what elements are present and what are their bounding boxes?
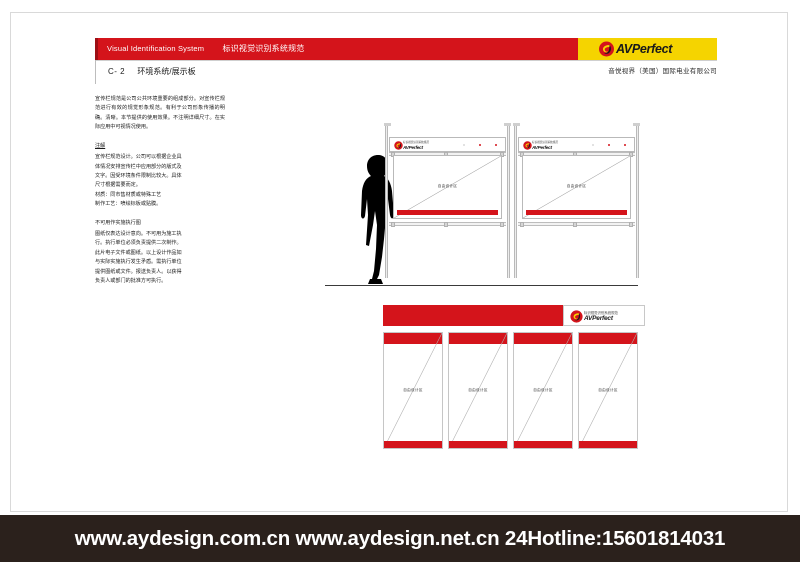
header-subrow: C- 2 环境系统/展示板 音悦视界（美国）国际电业有限公司 <box>95 60 717 84</box>
warning-line: 行。执行单位必须负责提供二次制作。 <box>95 239 225 248</box>
warning-line: 与实际实施执行发生矛盾。需执行单位 <box>95 258 225 267</box>
board-design-panel: 自由设计区 <box>393 155 502 219</box>
board-post-right <box>636 126 639 278</box>
plan-brand-en: AVPerfect <box>584 315 613 322</box>
plan-panel: 自由设计区 <box>578 332 638 449</box>
footer-banner: www.aydesign.com.cn www.aydesign.net.cn … <box>0 515 800 562</box>
note-line: 体情况安排宣传栏中应用部分的版式及 <box>95 163 225 172</box>
ground-line <box>325 285 638 286</box>
intro-paragraph: 宣传栏规范是公司公共环境重要的组成部分。对宣传栏规范进行有效的规觉形象规范。有利… <box>95 95 225 133</box>
panel-red-bar <box>397 210 498 215</box>
plan-panel: 自由设计区 <box>448 332 508 449</box>
note-line: 文字。因受环境条件限制比较大。具体 <box>95 172 225 181</box>
swirl-logo-icon <box>523 141 532 150</box>
rail-nub-icon <box>520 222 524 227</box>
board-rail-bottom <box>518 222 635 226</box>
rail-nub-icon <box>500 222 504 227</box>
rail-nub-icon <box>391 222 395 227</box>
post-cap-icon <box>504 123 511 126</box>
plan-panel: 自由设计区 <box>383 332 443 449</box>
header-red-band: Visual Identification System 标识视觉识别系统规范 <box>95 38 578 60</box>
board-header-bar: 标识视觉识别系统规范 AVPerfect <box>518 137 635 152</box>
system-title-cn: 标识视觉识别系统规范 <box>222 44 304 53</box>
system-title-en: Visual Identification System <box>107 44 204 53</box>
note-line: 材质：同市售材质或特殊工艺 <box>95 191 225 200</box>
panel-label: 自由设计区 <box>394 184 501 189</box>
panel-bottom-bar <box>449 441 507 448</box>
copy-column: 宣传栏规范是公司公共环境重要的组成部分。对宣传栏规范进行有效的规觉形象规范。有利… <box>95 95 225 287</box>
warning-line: 图纸仅表达设计意向。不可用为施工执 <box>95 230 225 239</box>
panel-red-bar <box>526 210 627 215</box>
warning-line: 提供图纸或文件。报送负责人。以获得 <box>95 268 225 277</box>
panel-label: 自由设计区 <box>449 388 507 393</box>
rail-nub-icon <box>629 222 633 227</box>
plan-panel-row: 自由设计区 自由设计区 自由设计区 自由设计区 <box>383 332 645 449</box>
board-header-bar: 标识视觉识别系统规范 AVPerfect <box>389 137 506 152</box>
company-name: 音悦视界（美国）国际电业有限公司 <box>608 60 717 84</box>
note-line: 尺寸根据需要而定。 <box>95 181 225 190</box>
brand-wordmark: AVPerfect <box>616 41 672 57</box>
display-board-left: 标识视觉识别系统规范 AVPerfect 自由设计区 <box>385 126 510 278</box>
plan-logo-box: 标识视觉识别系统规范 AVPerfect <box>563 305 645 326</box>
warning-line: 此片电子文件或图纸。以上设计作品如 <box>95 249 225 258</box>
note-line: 制作工艺：喷绘标板或贴膜。 <box>95 200 225 209</box>
post-cap-icon <box>513 123 520 126</box>
panel-label: 自由设计区 <box>523 184 630 189</box>
board-brand-wordmark: 标识视觉识别系统规范 AVPerfect <box>403 140 429 150</box>
board-post-right <box>507 126 510 278</box>
footer-contact-text: www.aydesign.com.cn www.aydesign.net.cn … <box>0 527 800 551</box>
note-heading: 注解 <box>95 142 225 151</box>
panel-bottom-bar <box>579 441 637 448</box>
board-brand-en: AVPerfect <box>403 145 423 150</box>
panel-label: 自由设计区 <box>579 388 637 393</box>
warning-heading: 不可用作实施执行图 <box>95 219 225 228</box>
elevation-drawing: 标识视觉识别系统规范 AVPerfect 自由设计区 <box>325 126 645 286</box>
swirl-logo-icon <box>394 141 403 150</box>
post-cap-icon <box>384 123 391 126</box>
rail-nub-icon <box>444 222 448 227</box>
board-marker-dots <box>592 144 630 147</box>
document-header: Visual Identification System 标识视觉识别系统规范 … <box>95 38 717 84</box>
board-marker-dots <box>463 144 501 147</box>
note-line: 宣传栏规范设计。公司可以根据企业具 <box>95 153 225 162</box>
plan-drawing: 标识视觉识别系统规范 AVPerfect 自由设计区 自由设计区 自由 <box>383 305 645 449</box>
header-title-group: Visual Identification System 标识视觉识别系统规范 <box>107 38 304 60</box>
header-accent-bar <box>95 38 98 60</box>
board-rail-bottom <box>389 222 506 226</box>
panel-label: 自由设计区 <box>514 388 572 393</box>
plan-panel: 自由设计区 <box>513 332 573 449</box>
swirl-logo-icon <box>570 310 583 323</box>
board-brand-wordmark: 标识视觉识别系统规范 AVPerfect <box>532 140 558 150</box>
display-board-right: 标识视觉识别系统规范 AVPerfect 自由设计区 <box>514 126 639 278</box>
plan-brand-wordmark: 标识视觉识别系统规范 AVPerfect <box>584 310 618 323</box>
section-code: C- 2 <box>108 67 125 76</box>
swirl-logo-icon <box>598 41 615 57</box>
panel-label: 自由设计区 <box>384 388 442 393</box>
board-post-left <box>514 126 517 278</box>
post-cap-icon <box>633 123 640 126</box>
board-brand-en: AVPerfect <box>532 145 552 150</box>
board-design-panel: 自由设计区 <box>522 155 631 219</box>
warning-line: 负责人或部门的批准方可执行。 <box>95 277 225 286</box>
panel-bottom-bar <box>384 441 442 448</box>
rail-nub-icon <box>573 222 577 227</box>
board-post-left <box>385 126 388 278</box>
section-label: C- 2 环境系统/展示板 <box>95 60 196 84</box>
panel-bottom-bar <box>514 441 572 448</box>
section-title: 环境系统/展示板 <box>137 67 195 76</box>
